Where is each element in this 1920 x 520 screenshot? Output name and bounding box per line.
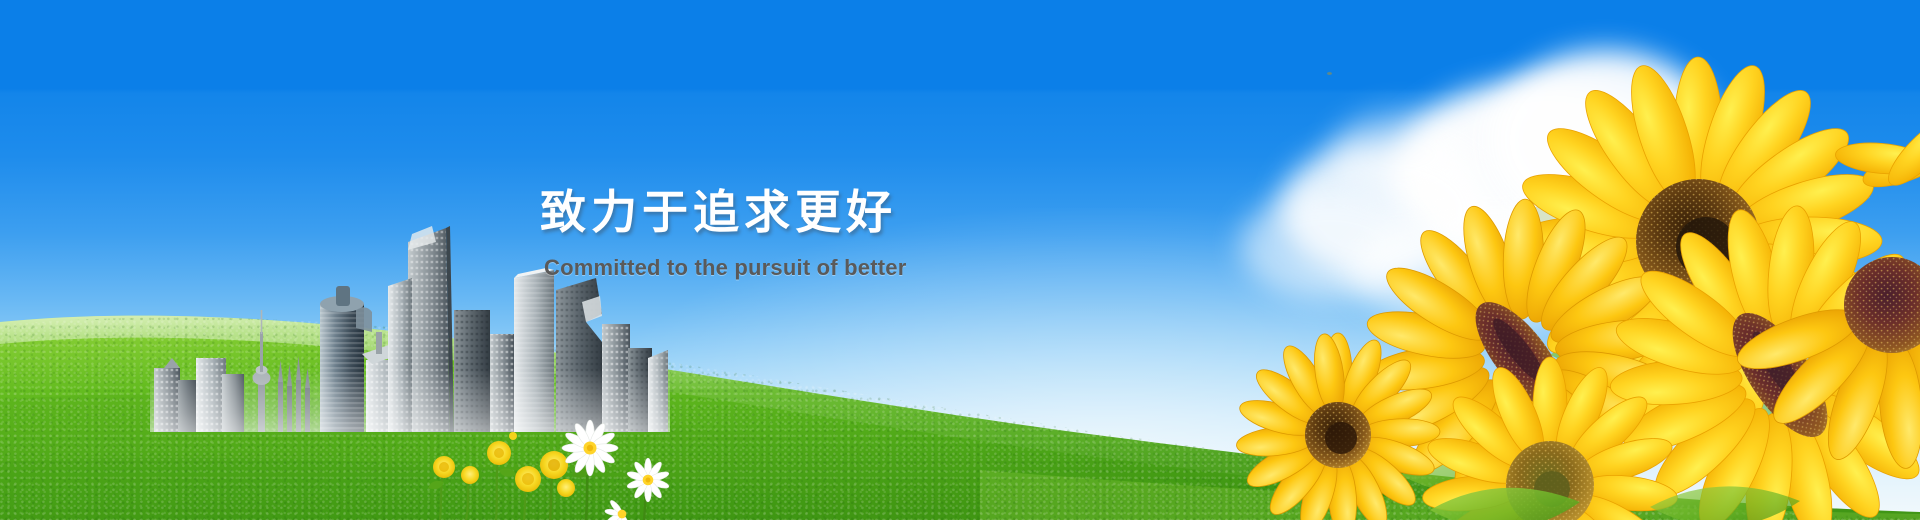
page-subtitle: Committed to the pursuit of better (544, 255, 1060, 281)
banner-text-block: 致力于追求更好 Committed to the pursuit of bett… (540, 186, 1060, 281)
sunflower-cluster (1220, 55, 1920, 520)
page-title: 致力于追求更好 (540, 186, 1060, 239)
hero-banner: 致力于追求更好 Committed to the pursuit of bett… (0, 0, 1920, 520)
meadow-flowers (400, 410, 760, 520)
